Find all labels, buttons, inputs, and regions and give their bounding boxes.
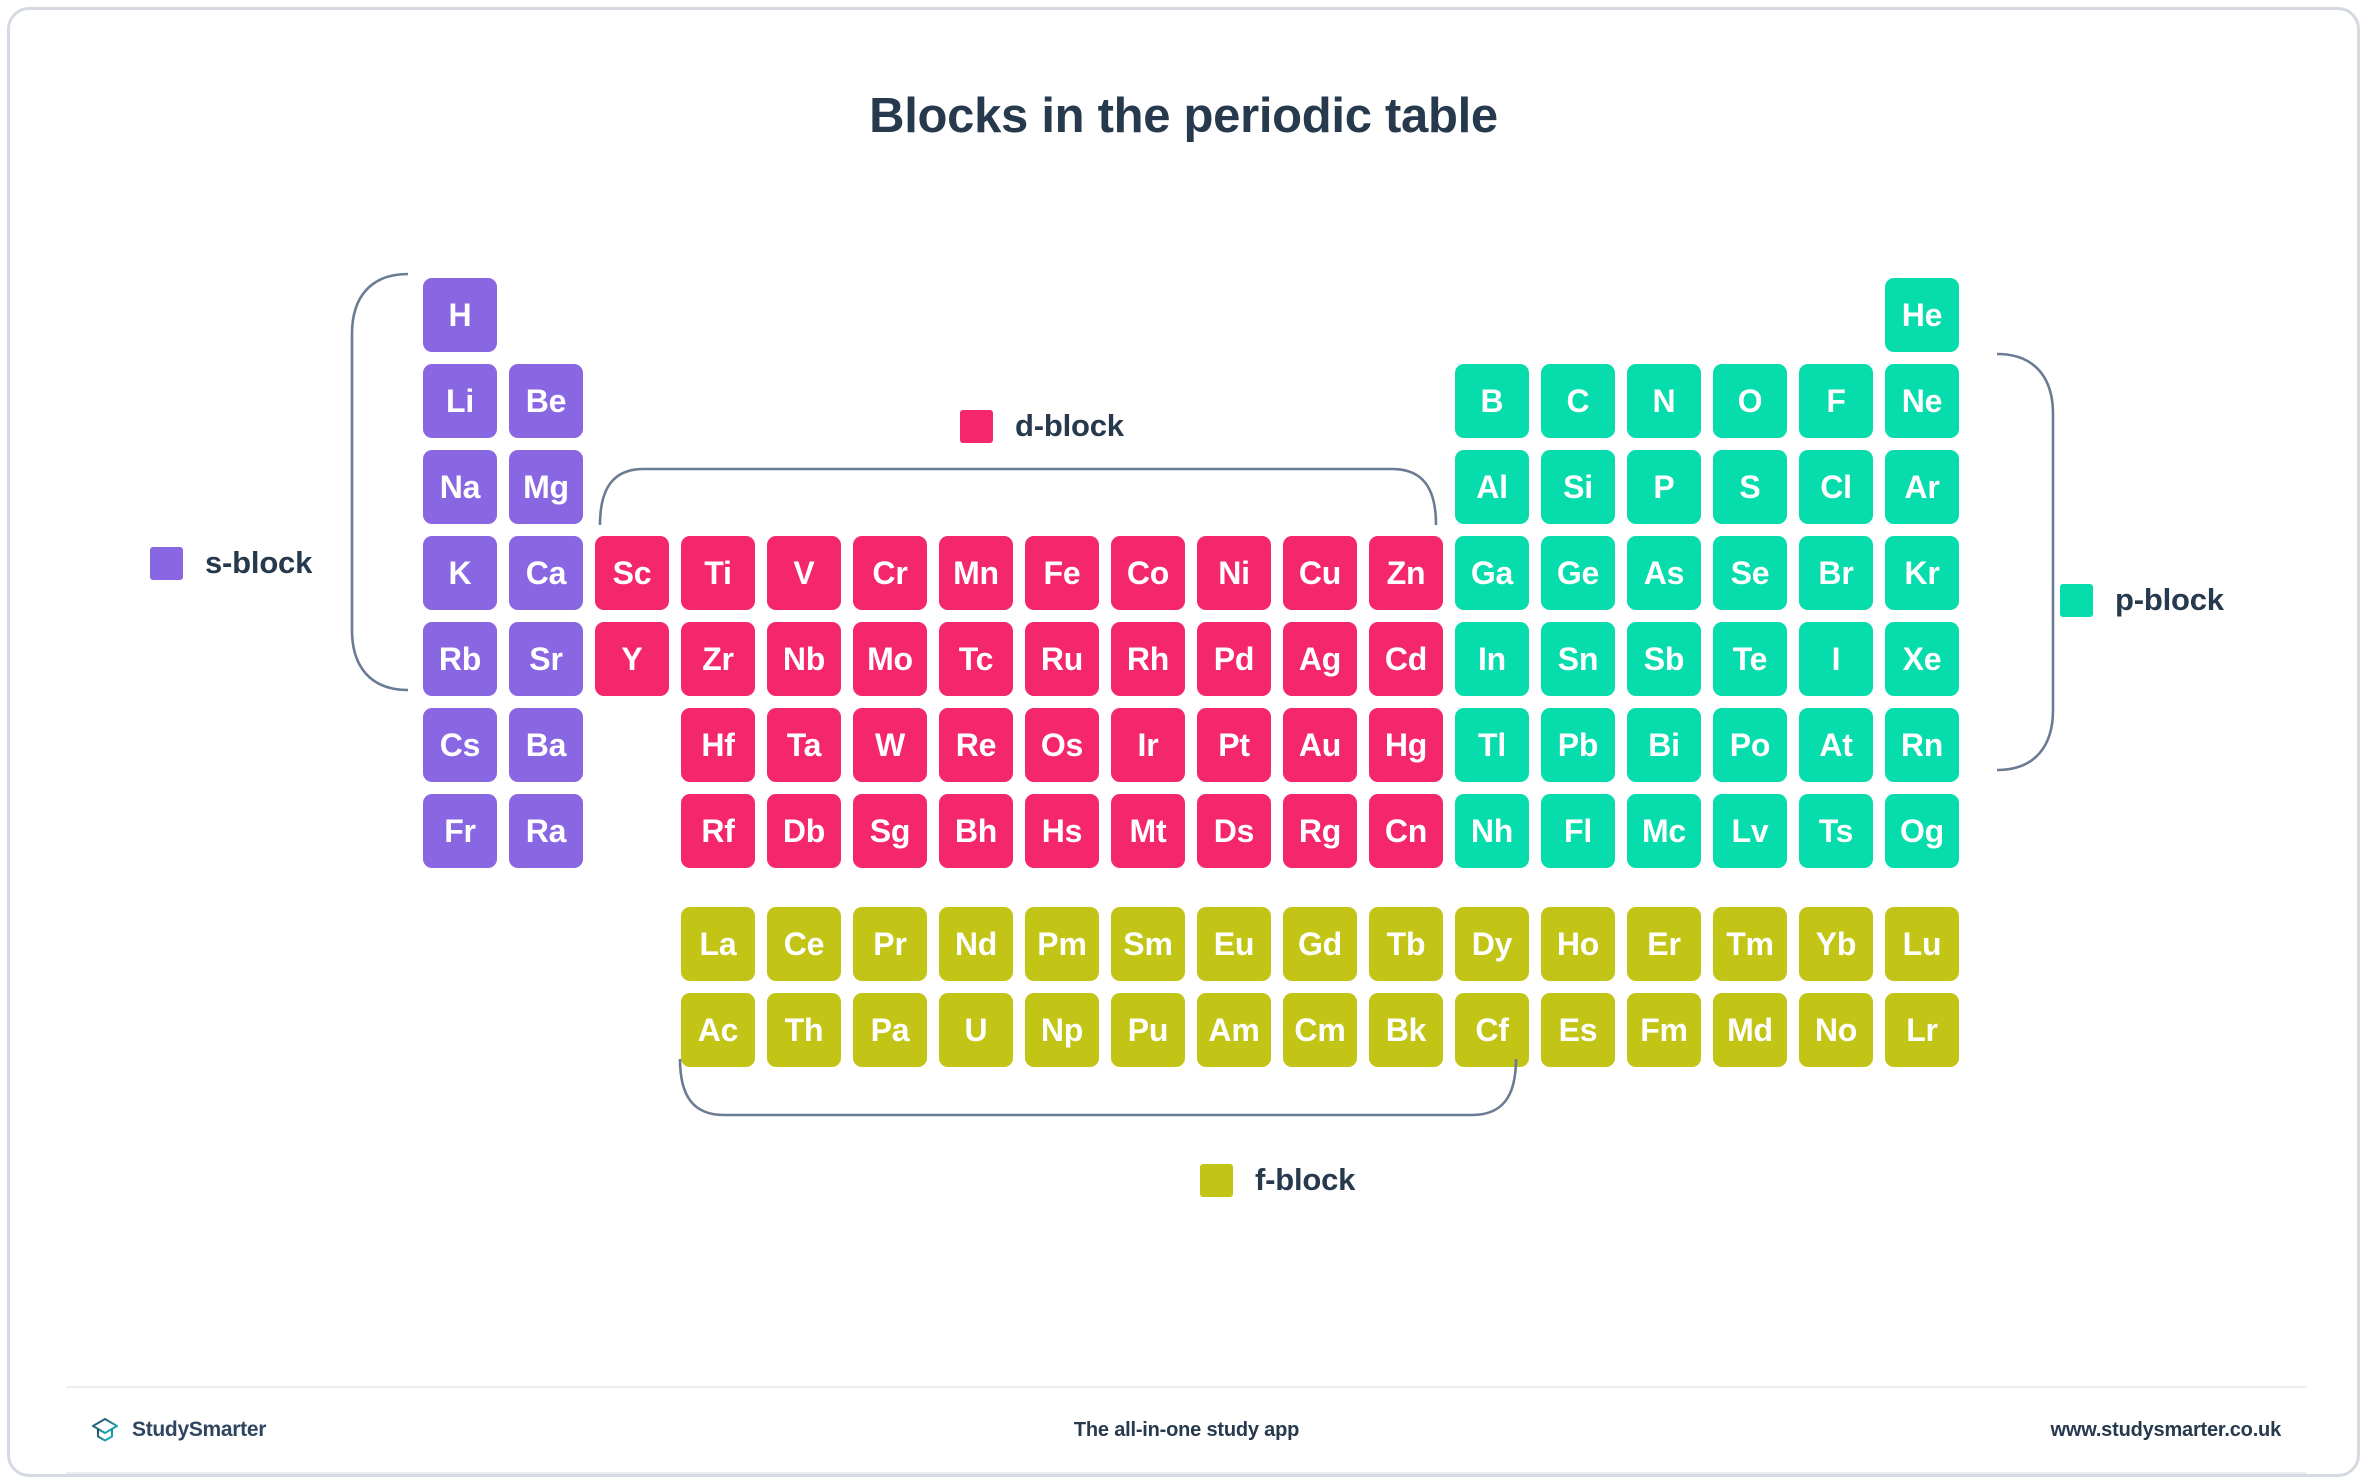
p-block-bracket [1995,352,2055,772]
element-cell-be[interactable]: Be [509,364,583,438]
element-cell-am[interactable]: Am [1197,993,1271,1067]
element-cell-w[interactable]: W [853,708,927,782]
element-cell-mt[interactable]: Mt [1111,794,1185,868]
element-cell-ir[interactable]: Ir [1111,708,1185,782]
element-cell-si[interactable]: Si [1541,450,1615,524]
element-cell-u[interactable]: U [939,993,1013,1067]
element-cell-ds[interactable]: Ds [1197,794,1271,868]
element-cell-db[interactable]: Db [767,794,841,868]
element-cell-cl[interactable]: Cl [1799,450,1873,524]
element-cell-sm[interactable]: Sm [1111,907,1185,981]
element-cell-dy[interactable]: Dy [1455,907,1529,981]
element-cell-xe[interactable]: Xe [1885,622,1959,696]
element-cell-tb[interactable]: Tb [1369,907,1443,981]
legend-d-block-label: d-block [1015,408,1124,444]
element-cell-cm[interactable]: Cm [1283,993,1357,1067]
element-cell-ru[interactable]: Ru [1025,622,1099,696]
element-cell-br[interactable]: Br [1799,536,1873,610]
element-cell-ge[interactable]: Ge [1541,536,1615,610]
element-cell-as[interactable]: As [1627,536,1701,610]
element-cell-rn[interactable]: Rn [1885,708,1959,782]
element-cell-nd[interactable]: Nd [939,907,1013,981]
element-cell-bh[interactable]: Bh [939,794,1013,868]
element-cell-ni[interactable]: Ni [1197,536,1271,610]
element-cell-sc[interactable]: Sc [595,536,669,610]
element-cell-rf[interactable]: Rf [681,794,755,868]
element-cell-fe[interactable]: Fe [1025,536,1099,610]
element-cell-zn[interactable]: Zn [1369,536,1443,610]
element-cell-cs[interactable]: Cs [423,708,497,782]
f-block-swatch [1200,1164,1233,1197]
legend-p-block-label: p-block [2115,582,2224,618]
element-cell-h[interactable]: H [423,278,497,352]
element-cell-tl[interactable]: Tl [1455,708,1529,782]
element-cell-rg[interactable]: Rg [1283,794,1357,868]
f-block-bracket [678,1057,1518,1119]
element-cell-ag[interactable]: Ag [1283,622,1357,696]
legend-s-block-label: s-block [205,545,312,581]
element-cell-ga[interactable]: Ga [1455,536,1529,610]
element-cell-yb[interactable]: Yb [1799,907,1873,981]
element-cell-sb[interactable]: Sb [1627,622,1701,696]
element-cell-th[interactable]: Th [767,993,841,1067]
element-cell-og[interactable]: Og [1885,794,1959,868]
element-cell-cd[interactable]: Cd [1369,622,1443,696]
element-cell-es[interactable]: Es [1541,993,1615,1067]
element-cell-pu[interactable]: Pu [1111,993,1185,1067]
element-cell-pb[interactable]: Pb [1541,708,1615,782]
element-cell-b[interactable]: B [1455,364,1529,438]
element-cell-au[interactable]: Au [1283,708,1357,782]
footer-url: www.studysmarter.co.uk [2051,1419,2282,1442]
s-block-swatch [150,547,183,580]
element-cell-ra[interactable]: Ra [509,794,583,868]
element-cell-f[interactable]: F [1799,364,1873,438]
element-cell-np[interactable]: Np [1025,993,1099,1067]
element-cell-v[interactable]: V [767,536,841,610]
element-cell-pm[interactable]: Pm [1025,907,1099,981]
element-cell-s[interactable]: S [1713,450,1787,524]
element-cell-ac[interactable]: Ac [681,993,755,1067]
legend-f-block-label: f-block [1255,1162,1355,1198]
element-cell-al[interactable]: Al [1455,450,1529,524]
element-cell-ca[interactable]: Ca [509,536,583,610]
element-cell-cn[interactable]: Cn [1369,794,1443,868]
element-cell-fm[interactable]: Fm [1627,993,1701,1067]
element-cell-bi[interactable]: Bi [1627,708,1701,782]
legend-p-block: p-block [2060,582,2224,618]
element-cell-ho[interactable]: Ho [1541,907,1615,981]
element-cell-pd[interactable]: Pd [1197,622,1271,696]
element-cell-mn[interactable]: Mn [939,536,1013,610]
element-cell-mo[interactable]: Mo [853,622,927,696]
element-cell-p[interactable]: P [1627,450,1701,524]
element-cell-cf[interactable]: Cf [1455,993,1529,1067]
element-cell-sg[interactable]: Sg [853,794,927,868]
element-cell-pt[interactable]: Pt [1197,708,1271,782]
element-cell-cu[interactable]: Cu [1283,536,1357,610]
element-cell-co[interactable]: Co [1111,536,1185,610]
element-cell-nh[interactable]: Nh [1455,794,1529,868]
element-cell-zr[interactable]: Zr [681,622,755,696]
element-cell-pa[interactable]: Pa [853,993,927,1067]
element-cell-k[interactable]: K [423,536,497,610]
element-cell-ar[interactable]: Ar [1885,450,1959,524]
element-cell-eu[interactable]: Eu [1197,907,1271,981]
element-cell-at[interactable]: At [1799,708,1873,782]
element-cell-hf[interactable]: Hf [681,708,755,782]
element-cell-fr[interactable]: Fr [423,794,497,868]
element-cell-rh[interactable]: Rh [1111,622,1185,696]
element-cell-fl[interactable]: Fl [1541,794,1615,868]
element-cell-er[interactable]: Er [1627,907,1701,981]
element-cell-y[interactable]: Y [595,622,669,696]
d-block-swatch [960,410,993,443]
element-cell-ce[interactable]: Ce [767,907,841,981]
element-cell-ta[interactable]: Ta [767,708,841,782]
footer-tagline: The all-in-one study app [66,1419,2307,1442]
legend-f-block: f-block [1200,1162,1355,1198]
element-cell-ne[interactable]: Ne [1885,364,1959,438]
element-cell-ti[interactable]: Ti [681,536,755,610]
legend-s-block: s-block [150,545,312,581]
element-cell-re[interactable]: Re [939,708,1013,782]
element-cell-pr[interactable]: Pr [853,907,927,981]
element-cell-ts[interactable]: Ts [1799,794,1873,868]
element-cell-li[interactable]: Li [423,364,497,438]
element-cell-lv[interactable]: Lv [1713,794,1787,868]
element-cell-ba[interactable]: Ba [509,708,583,782]
element-cell-hs[interactable]: Hs [1025,794,1099,868]
legend-d-block: d-block [960,408,1124,444]
p-block-swatch [2060,584,2093,617]
element-cell-lu[interactable]: Lu [1885,907,1959,981]
element-cell-mg[interactable]: Mg [509,450,583,524]
footer: StudySmarter The all-in-one study app ww… [66,1386,2307,1474]
element-cell-n[interactable]: N [1627,364,1701,438]
element-cell-i[interactable]: I [1799,622,1873,696]
element-cell-se[interactable]: Se [1713,536,1787,610]
element-cell-la[interactable]: La [681,907,755,981]
element-cell-te[interactable]: Te [1713,622,1787,696]
element-cell-rb[interactable]: Rb [423,622,497,696]
element-cell-os[interactable]: Os [1025,708,1099,782]
element-cell-tc[interactable]: Tc [939,622,1013,696]
element-cell-nb[interactable]: Nb [767,622,841,696]
element-cell-mc[interactable]: Mc [1627,794,1701,868]
element-cell-no[interactable]: No [1799,993,1873,1067]
element-cell-kr[interactable]: Kr [1885,536,1959,610]
d-block-bracket [598,465,1438,527]
element-cell-o[interactable]: O [1713,364,1787,438]
s-block-bracket [350,272,410,692]
element-cell-md[interactable]: Md [1713,993,1787,1067]
diagram-card: Blocks in the periodic table HHeLiBeBCNO… [7,7,2360,1477]
element-cell-tm[interactable]: Tm [1713,907,1787,981]
element-cell-sr[interactable]: Sr [509,622,583,696]
element-cell-cr[interactable]: Cr [853,536,927,610]
element-cell-in[interactable]: In [1455,622,1529,696]
element-cell-lr[interactable]: Lr [1885,993,1959,1067]
element-cell-hg[interactable]: Hg [1369,708,1443,782]
element-cell-sn[interactable]: Sn [1541,622,1615,696]
element-cell-na[interactable]: Na [423,450,497,524]
element-cell-po[interactable]: Po [1713,708,1787,782]
element-cell-c[interactable]: C [1541,364,1615,438]
element-cell-he[interactable]: He [1885,278,1959,352]
element-cell-bk[interactable]: Bk [1369,993,1443,1067]
element-cell-gd[interactable]: Gd [1283,907,1357,981]
